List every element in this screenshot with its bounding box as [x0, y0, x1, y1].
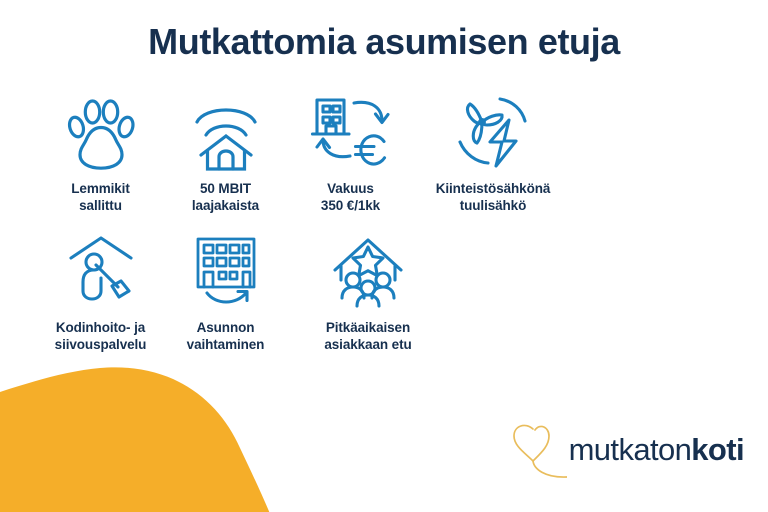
benefit-caption-line1: Asunnon	[187, 319, 265, 336]
benefit-caption-line1: Pitkäaikaisen	[324, 319, 411, 336]
benefit-caption-line2: siivouspalvelu	[55, 336, 147, 353]
paw-print-icon	[65, 92, 137, 174]
page-title: Mutkattomia asumisen etuja	[0, 22, 768, 62]
benefit-caption: Lemmikit sallittu	[71, 180, 129, 215]
benefits-row-1: Lemmikit sallittu	[38, 92, 638, 215]
benefits-row-2: Kodinhoito- ja siivouspalvelu	[38, 231, 638, 354]
benefit-caption-line1: 50 MBIT	[192, 180, 259, 197]
family-star-house-icon	[325, 231, 411, 313]
benefit-caption: Kodinhoito- ja siivouspalvelu	[55, 319, 147, 354]
apartment-building-swap-icon	[188, 231, 264, 313]
benefit-item-pets: Lemmikit sallittu	[38, 92, 163, 215]
heart-swoosh-icon	[511, 420, 567, 478]
benefit-caption-line1: Kiinteistösähkönä	[436, 180, 551, 197]
cleaning-person-house-icon	[63, 231, 139, 313]
benefit-caption-line2: asiakkaan etu	[324, 336, 411, 353]
benefit-caption: Pitkäaikaisen asiakkaan etu	[324, 319, 411, 354]
wind-turbine-lightning-icon	[452, 92, 534, 174]
benefit-caption: 50 MBIT laajakaista	[192, 180, 259, 215]
benefit-caption-line2: laajakaista	[192, 197, 259, 214]
logo-wordmark-light: mutkaton	[569, 432, 692, 467]
brand-logo: mutkatonkoti	[511, 420, 744, 478]
building-euro-exchange-icon	[310, 92, 392, 174]
benefit-caption: Vakuus 350 €/1kk	[321, 180, 380, 215]
benefit-item-loyalty: Pitkäaikaisen asiakkaan etu	[288, 231, 448, 354]
benefit-caption: Asunnon vaihtaminen	[187, 319, 265, 354]
benefit-item-broadband: 50 MBIT laajakaista	[163, 92, 288, 215]
benefit-caption-line1: Lemmikit	[71, 180, 129, 197]
slide-canvas: Mutkattomia asumisen etuja	[0, 0, 768, 512]
benefit-caption-line1: Vakuus	[321, 180, 380, 197]
benefit-item-cleaning-service: Kodinhoito- ja siivouspalvelu	[38, 231, 163, 354]
amber-blob-decoration	[0, 352, 300, 512]
benefit-caption-line2: tuulisähkö	[436, 197, 551, 214]
wifi-house-icon	[188, 92, 264, 174]
benefit-caption-line1: Kodinhoito- ja	[55, 319, 147, 336]
benefit-caption-line2: 350 €/1kk	[321, 197, 380, 214]
benefit-item-apartment-swap: Asunnon vaihtaminen	[163, 231, 288, 354]
benefit-caption-line2: sallittu	[71, 197, 129, 214]
benefit-item-wind-power: Kiinteistösähkönä tuulisähkö	[413, 92, 573, 215]
logo-wordmark: mutkatonkoti	[569, 434, 744, 465]
benefits-grid: Lemmikit sallittu	[38, 92, 638, 353]
logo-wordmark-bold: koti	[691, 432, 744, 467]
benefit-caption: Kiinteistösähkönä tuulisähkö	[436, 180, 551, 215]
benefit-item-deposit: Vakuus 350 €/1kk	[288, 92, 413, 215]
benefit-caption-line2: vaihtaminen	[187, 336, 265, 353]
